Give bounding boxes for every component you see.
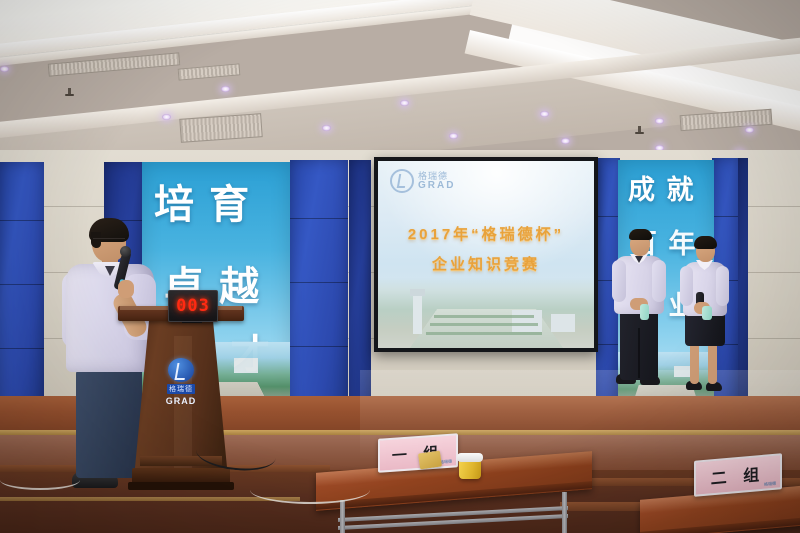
floor-cable-1 [250, 476, 370, 504]
table-1-leg-left [340, 500, 345, 533]
ceiling [0, 0, 800, 175]
downlight-2 [221, 86, 230, 92]
female-arm-left [680, 266, 693, 306]
contestant-male [612, 228, 666, 388]
male-arm-right [652, 260, 666, 302]
projection-screen: 格瑞德 GRAD 2017年“格瑞德杯” 企业知识竞赛 [378, 161, 594, 348]
table-1-leg-right [562, 492, 567, 533]
slide-campus-image [378, 278, 594, 348]
projection-screen-frame: 格瑞德 GRAD 2017年“格瑞德杯” 企业知识竞赛 [374, 157, 598, 352]
yellow-container [459, 459, 481, 479]
air-vent-left-2 [178, 63, 241, 80]
downlight-3 [162, 114, 171, 120]
female-arm-right [716, 266, 729, 306]
female-leg-right [708, 340, 717, 384]
podium: 格瑞德 GRAD [118, 306, 244, 506]
podium-logo-cn: 格瑞德 [167, 384, 195, 394]
downlight-7 [540, 111, 549, 117]
female-water-bottle [702, 306, 712, 320]
floor-cable-2 [0, 470, 80, 490]
grad-logo-icon [390, 169, 414, 193]
male-hair [629, 229, 652, 240]
slide-title-line1: 2017年“格瑞德杯” [378, 223, 594, 244]
male-water-bottle [640, 304, 649, 320]
wall-panel-blue-1 [0, 162, 44, 410]
podium-logo-en: GRAD [166, 396, 197, 406]
sprinkler-head-right [638, 126, 641, 134]
countdown-timer-display: 003 [168, 290, 218, 322]
podium-logo: 格瑞德 GRAD [162, 358, 200, 406]
podium-foot [128, 482, 234, 490]
downlight-9 [655, 118, 664, 124]
downlight-8 [561, 138, 570, 144]
slide-logo: 格瑞德 GRAD [390, 169, 455, 193]
gold-name-tag [418, 451, 442, 470]
downlight-5 [322, 125, 331, 131]
event-hall-photo: 培 育 卓 越 才 成 就 百 年 基 业 格瑞德 GRAD [0, 0, 800, 533]
female-leg-left [690, 340, 699, 384]
timer-digits: 003 [176, 296, 210, 316]
grad-emblem-icon [168, 358, 194, 382]
container-lid [457, 453, 483, 462]
table-sign-group-2: 二 组 格瑞德 [694, 453, 782, 497]
slide-title-line2: 企业知识竞赛 [378, 253, 594, 274]
speaker-glasses [93, 238, 125, 246]
downlight-11 [745, 127, 754, 133]
table-sign-2-text: 二 组 [711, 461, 765, 490]
sprinkler-head-left [68, 88, 71, 96]
contestant-female [680, 236, 732, 396]
male-arm-left [612, 260, 626, 302]
banner-left-line1: 培 育 [154, 172, 251, 230]
speaker-hand [118, 280, 134, 298]
table-sign-2-subtag: 格瑞德 [764, 481, 776, 488]
downlight-4 [400, 100, 409, 106]
downlight-6 [449, 133, 458, 139]
banner-right-line1: 成 就 [628, 168, 696, 207]
female-hair [694, 236, 717, 249]
slide-logo-en: GRAD [418, 181, 455, 191]
wall-panel-blue-3 [290, 160, 348, 418]
downlight-1 [0, 66, 9, 72]
microphone-head-icon [120, 246, 131, 257]
